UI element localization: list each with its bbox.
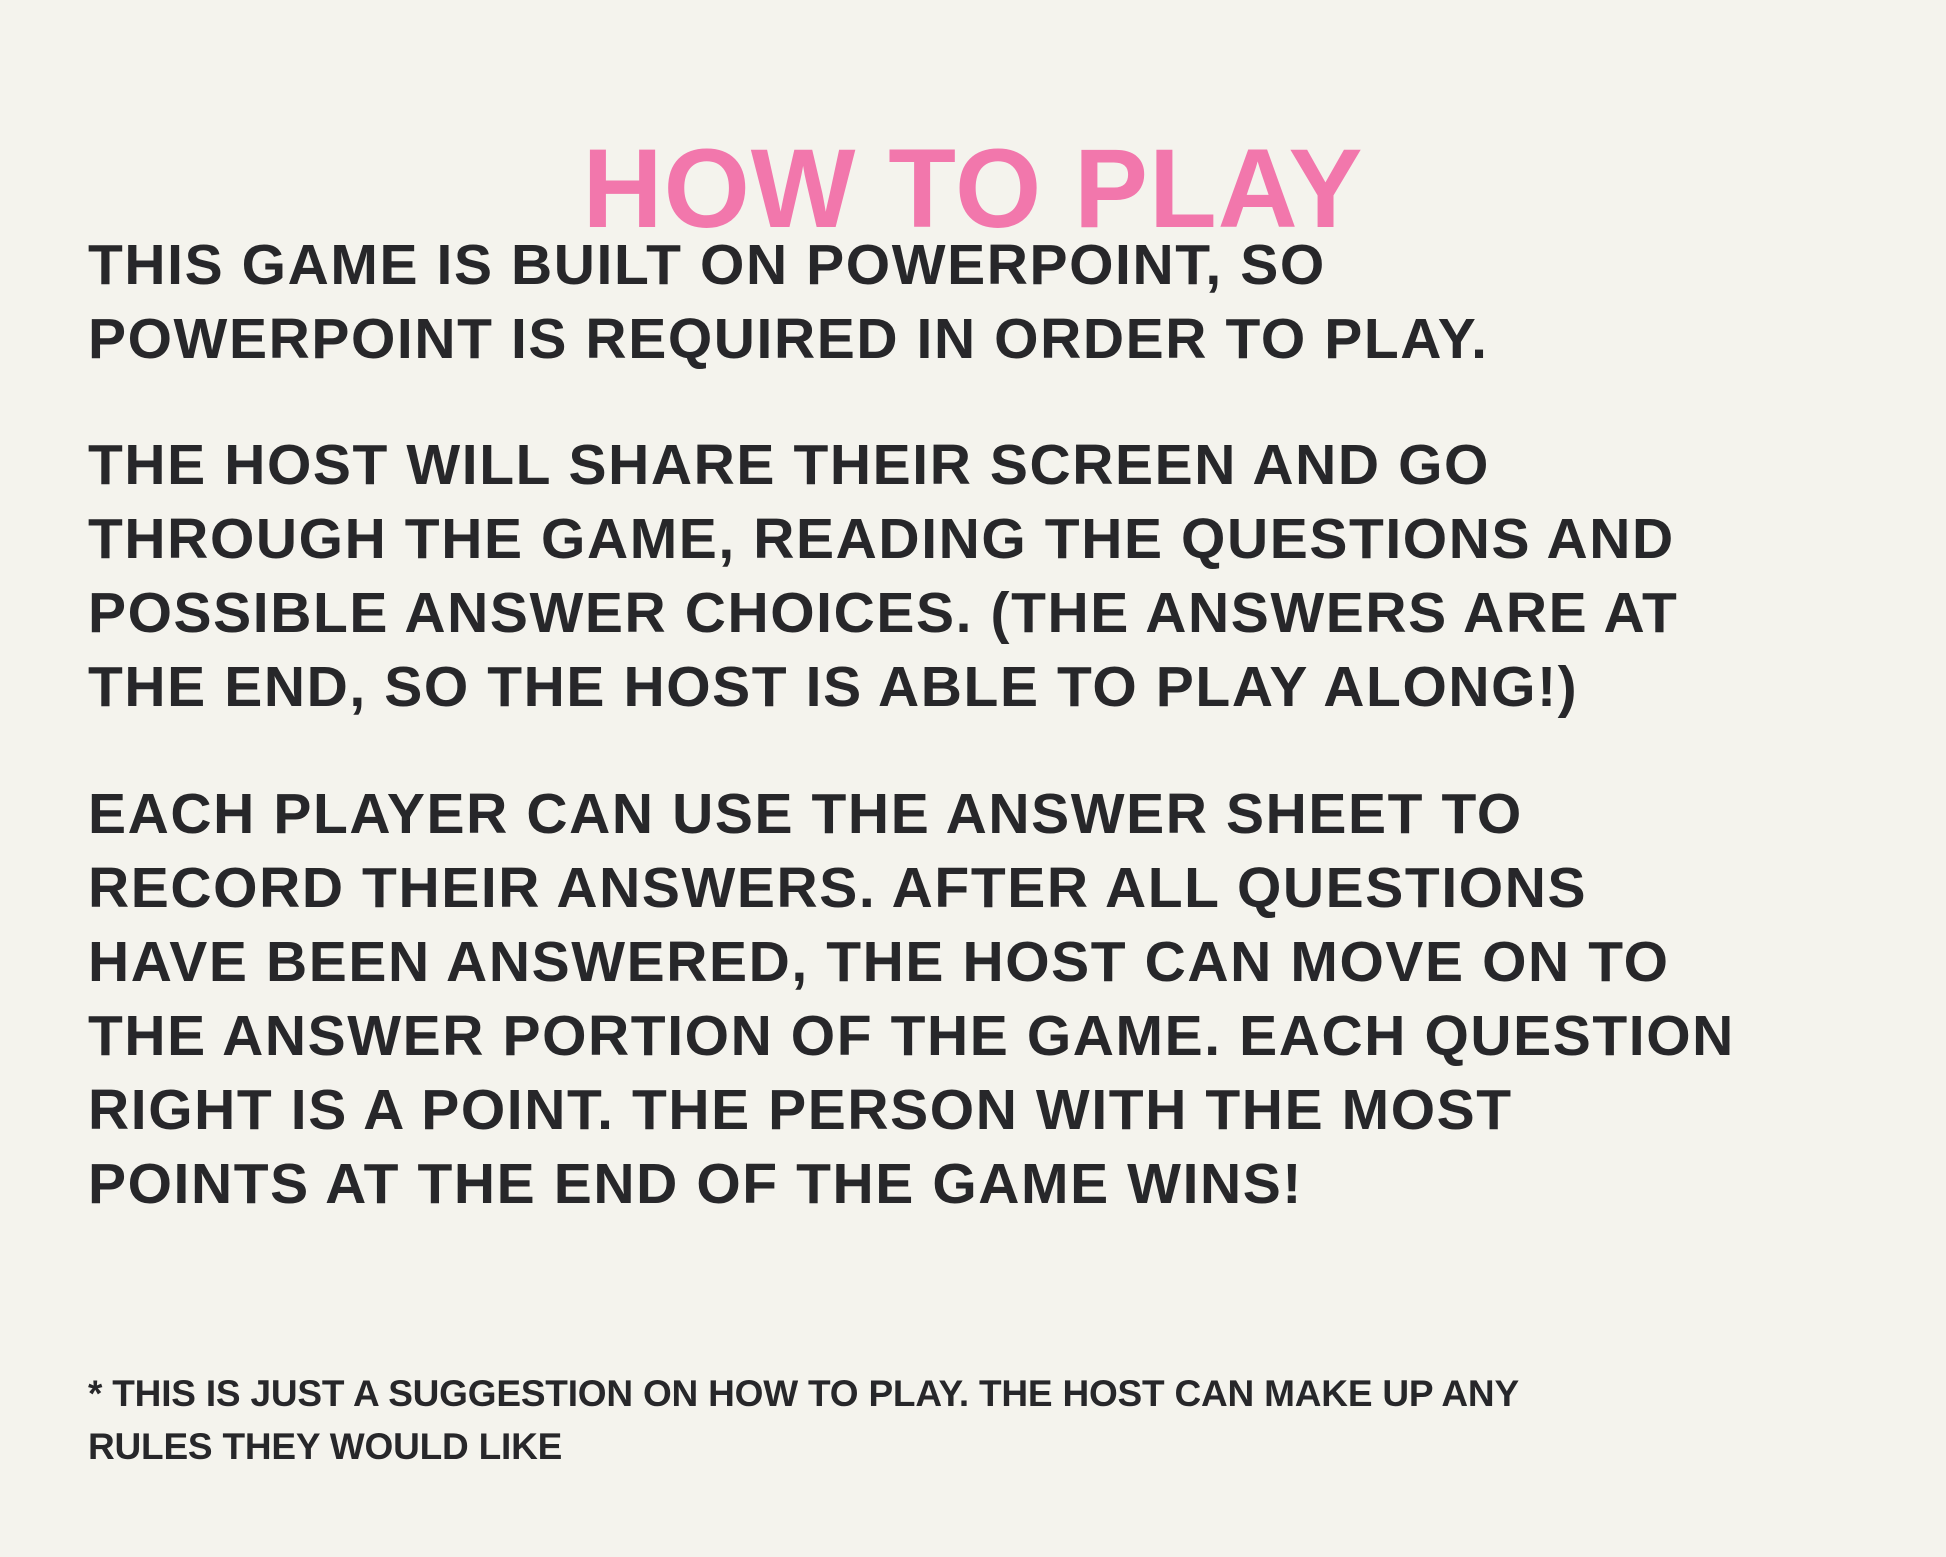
instructions-body: THIS GAME IS BUILT ON POWERPOINT, SO POW…: [88, 228, 1878, 1221]
how-to-play-slide: HOW TO PLAY THIS GAME IS BUILT ON POWERP…: [0, 0, 1946, 1557]
footnote-disclaimer: * THIS IS JUST A SUGGESTION ON HOW TO PL…: [88, 1368, 1878, 1473]
instruction-paragraph-2: THE HOST WILL SHARE THEIR SCREEN AND GO …: [88, 428, 1878, 724]
instruction-paragraph-1: THIS GAME IS BUILT ON POWERPOINT, SO POW…: [88, 228, 1878, 376]
instruction-paragraph-3: EACH PLAYER CAN USE THE ANSWER SHEET TO …: [88, 777, 1878, 1222]
